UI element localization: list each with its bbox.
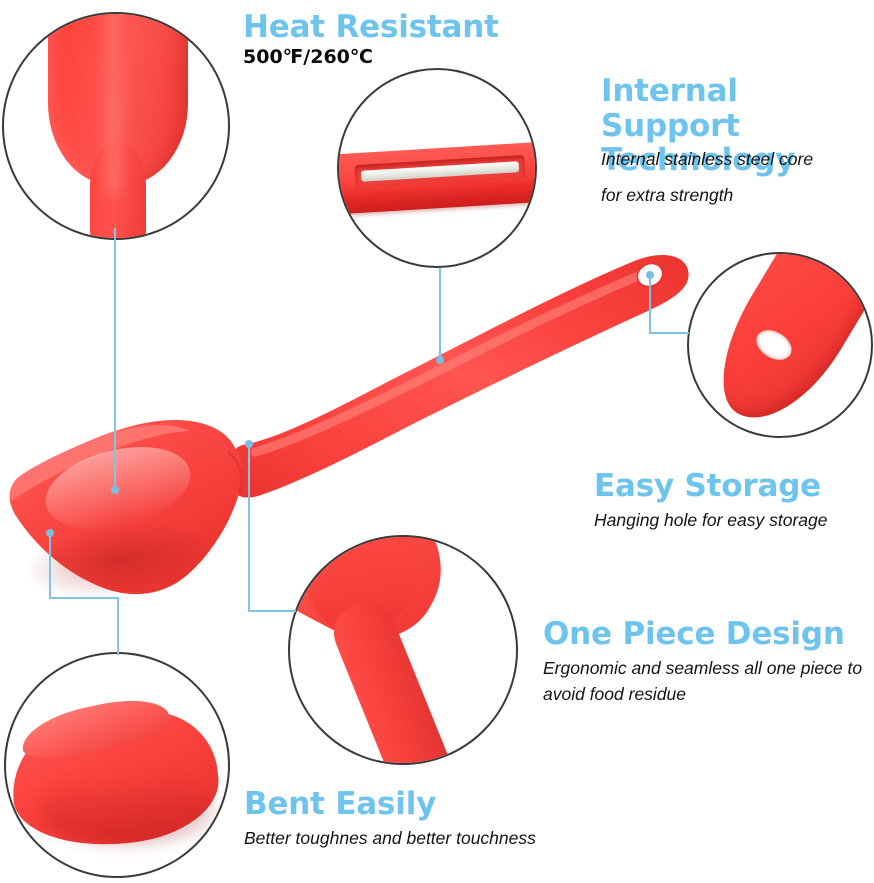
connector-bent-easily-vertical [49,533,51,599]
subtitle-one-piece-line2: avoid food residue [543,679,686,710]
spec-temperature: 500℉/260℃ [243,46,373,68]
closeup-head-gloss [100,12,126,194]
infographic-canvas: Heat Resistant 500℉/260℃ Internal Suppor… [0,0,874,883]
subtitle-internal-support-line1: Internal stainless steel core [601,144,813,175]
callout-one-piece-design [288,535,518,765]
connector-easy-storage-horizontal [649,332,689,334]
callout-easy-storage [687,252,873,438]
subtitle-bent-easily-line1: Better toughnes and better touchness [244,823,536,854]
callout-heat-resistant [2,12,230,240]
connector-bent-easily-drop [117,597,119,655]
connector-bent-easily-horizontal [49,597,119,599]
closeup-seamless-stem [325,593,461,765]
connector-internal-support [439,268,441,360]
connector-easy-storage-vertical [649,276,651,334]
connector-dot-bent-easily [46,529,54,537]
connector-dot-easy-storage [646,271,654,279]
connector-dot-one-piece [245,440,253,448]
closeup-bent-shadow [36,774,216,844]
heading-heat-resistant: Heat Resistant [243,10,499,45]
callout-internal-support [337,68,537,268]
heading-bent-easily: Bent Easily [244,787,436,822]
callout-bent-easily [4,652,230,878]
connector-heat-resistant [114,228,116,490]
spatula-handle [228,255,689,498]
connector-one-piece-horizontal [248,610,296,612]
connector-dot-heat-resistant [111,486,119,494]
connector-dot-internal-support [436,356,444,364]
connector-one-piece-vertical [248,444,250,612]
